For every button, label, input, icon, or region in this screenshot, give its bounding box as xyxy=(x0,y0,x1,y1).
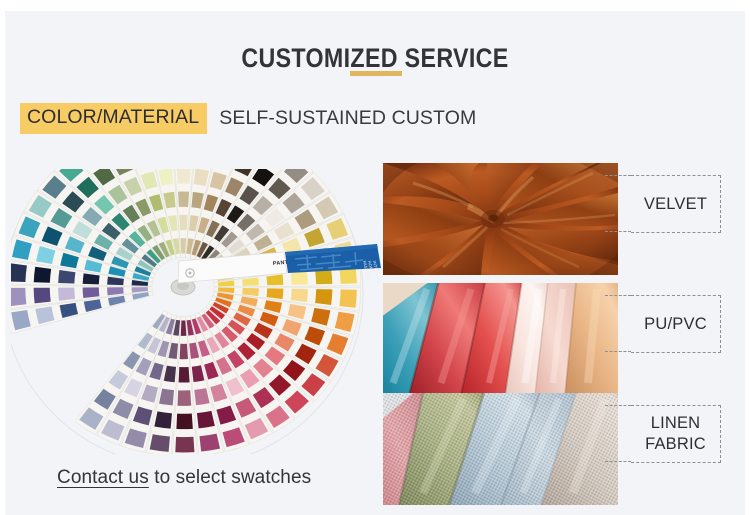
label-dash-left-bottom xyxy=(605,351,631,353)
linen-photo xyxy=(383,393,618,505)
material-label-text: VELVET xyxy=(644,194,707,215)
page-title: CUSTOMIZED SERVICE xyxy=(57,43,693,74)
material-label-velvet: VELVET xyxy=(631,175,721,233)
pantone-fandeck: PANTONE xyxy=(11,169,381,454)
material-label-pu-pvc: PU/PVC xyxy=(631,295,721,353)
footer-rest-text: to select swatches xyxy=(149,467,311,488)
contact-us-link[interactable]: Contact us xyxy=(57,467,149,488)
material-label-linen: LINENFABRIC xyxy=(631,405,721,463)
title-underline-rule xyxy=(350,71,402,76)
label-dash-left-bottom xyxy=(605,461,631,463)
label-dash-left-bottom xyxy=(605,231,631,233)
label-dash-left-top xyxy=(605,405,631,407)
material-label-text: LINENFABRIC xyxy=(645,413,706,455)
pu-pvc-photo xyxy=(383,283,618,395)
subtitle-row: COLOR/MATERIAL SELF-SUSTAINED CUSTOM xyxy=(20,103,476,134)
material-label-text: PU/PVC xyxy=(644,314,707,335)
subtitle-text: SELF-SUSTAINED CUSTOM xyxy=(219,107,476,130)
material-row-velvet: VELVET xyxy=(383,163,740,275)
pantone-fandeck-image: PANTONE xyxy=(11,169,381,454)
content-panel: CUSTOMIZED SERVICE COLOR/MATERIAL SELF-S… xyxy=(5,11,745,515)
promo-banner: CUSTOMIZED SERVICE COLOR/MATERIAL SELF-S… xyxy=(0,0,750,515)
color-material-badge: COLOR/MATERIAL xyxy=(20,103,207,134)
label-dash-left-top xyxy=(605,175,631,177)
material-row-linen: LINENFABRIC xyxy=(383,393,740,505)
label-dash-left-top xyxy=(605,295,631,297)
velvet-photo xyxy=(383,163,618,275)
material-row-pu-pvc: PU/PVC xyxy=(383,283,740,395)
footer-line: Contact us to select swatches xyxy=(57,467,311,489)
